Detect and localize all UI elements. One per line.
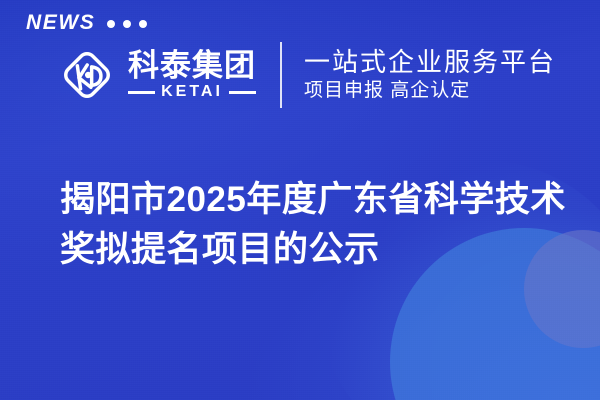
wordmark-english-row: KETAI: [128, 84, 256, 100]
kicker-dot: [123, 20, 131, 28]
news-banner: NEWS 科泰集团: [0, 0, 600, 400]
news-kicker: NEWS: [26, 12, 147, 33]
tagline-block: 一站式企业服务平台 项目申报 高企认定: [304, 48, 556, 102]
wordmark-english: KETAI: [161, 84, 223, 100]
wordmark-rule-left: [128, 91, 155, 94]
wordmark-chinese: 科泰集团: [128, 50, 256, 83]
wordmark: 科泰集团 KETAI: [128, 50, 256, 101]
news-kicker-dots: [107, 20, 147, 28]
ketai-diamond-logo-icon: [58, 46, 116, 104]
tagline-secondary: 项目申报 高企认定: [304, 81, 556, 102]
logo-dot: [85, 72, 91, 78]
logo-d-shape: [92, 67, 101, 86]
tagline-primary: 一站式企业服务平台: [304, 48, 556, 77]
wordmark-rule-right: [229, 91, 256, 94]
kicker-dot: [107, 20, 115, 28]
kicker-dot: [139, 20, 147, 28]
brand-row: 科泰集团 KETAI 一站式企业服务平台 项目申报 高企认定: [58, 42, 556, 108]
brand-divider: [280, 42, 282, 108]
headline-title: 揭阳市2025年度广东省科学技术奖拟提名项目的公示: [60, 175, 572, 274]
news-kicker-label: NEWS: [26, 12, 95, 33]
brand-lockup: 科泰集团 KETAI: [58, 46, 256, 104]
